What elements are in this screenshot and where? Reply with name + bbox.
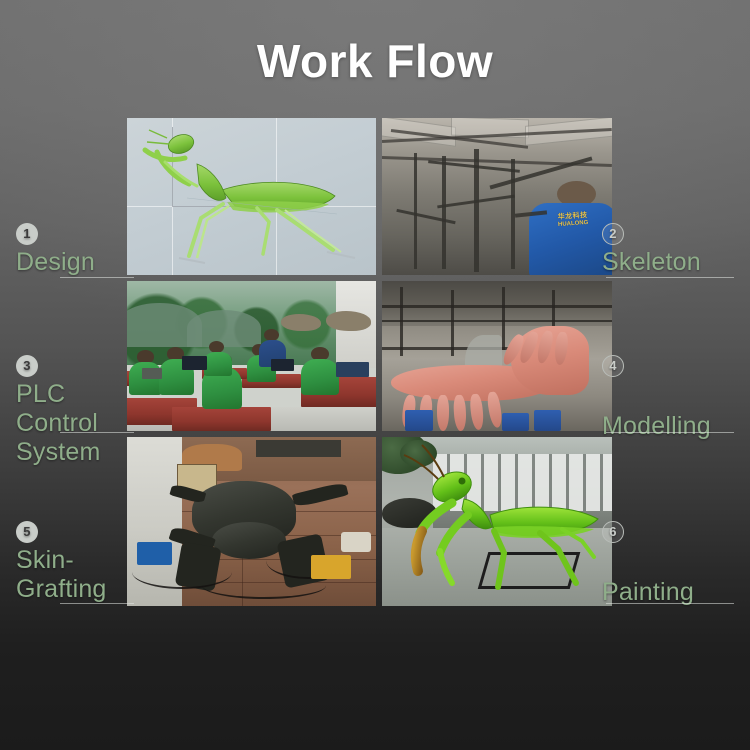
technician <box>204 352 231 376</box>
process-image-grid: 华龙科技 HUALONG <box>127 118 612 606</box>
technician <box>301 359 338 395</box>
step-label-text: Skeleton <box>602 248 734 277</box>
work-flow-infographic: Work Flow <box>0 0 750 750</box>
step-number-badge: 4 <box>602 355 624 377</box>
step-label-plc-control-system: 3 PLC Control System <box>16 348 134 467</box>
mantis-cad-render <box>127 118 376 275</box>
step-label-design: 1 Design <box>16 216 134 277</box>
process-image-skeleton: 华龙科技 HUALONG <box>382 118 612 275</box>
step-divider <box>60 277 134 278</box>
step-divider <box>60 603 134 604</box>
step-label-modelling: 4 Modelling <box>602 348 734 441</box>
step-number-badge: 3 <box>16 355 38 377</box>
step-label-skeleton: 2 Skeleton <box>602 216 734 277</box>
step-number-badge: 6 <box>602 521 624 543</box>
step-label-text: Design <box>16 248 134 277</box>
step-divider <box>606 432 734 433</box>
step-label-painting: 6 Painting <box>602 514 734 607</box>
process-image-plc-control-system <box>127 281 376 431</box>
step-number-badge: 5 <box>16 521 38 543</box>
step-label-text: Modelling <box>602 412 734 441</box>
process-image-modelling <box>382 281 612 431</box>
step-label-text: Skin-Grafting <box>16 546 134 604</box>
process-image-painting <box>382 437 612 606</box>
technician <box>129 362 161 395</box>
step-divider <box>60 432 134 433</box>
page-title: Work Flow <box>0 34 750 88</box>
step-divider <box>606 603 734 604</box>
process-image-skin-grafting <box>127 437 376 606</box>
step-divider <box>606 277 734 278</box>
dinosaur-model <box>281 314 321 331</box>
process-image-design <box>127 118 376 275</box>
step-number-badge: 1 <box>16 223 38 245</box>
jacket-brand-text: 华龙科技 HUALONG <box>537 211 608 231</box>
laptop <box>336 362 368 377</box>
step-label-text: PLC Control System <box>16 380 134 467</box>
step-number-badge: 2 <box>602 223 624 245</box>
painted-mantis <box>382 437 612 606</box>
step-label-skin-grafting: 5 Skin-Grafting <box>16 514 134 604</box>
dinosaur-model <box>326 311 371 331</box>
